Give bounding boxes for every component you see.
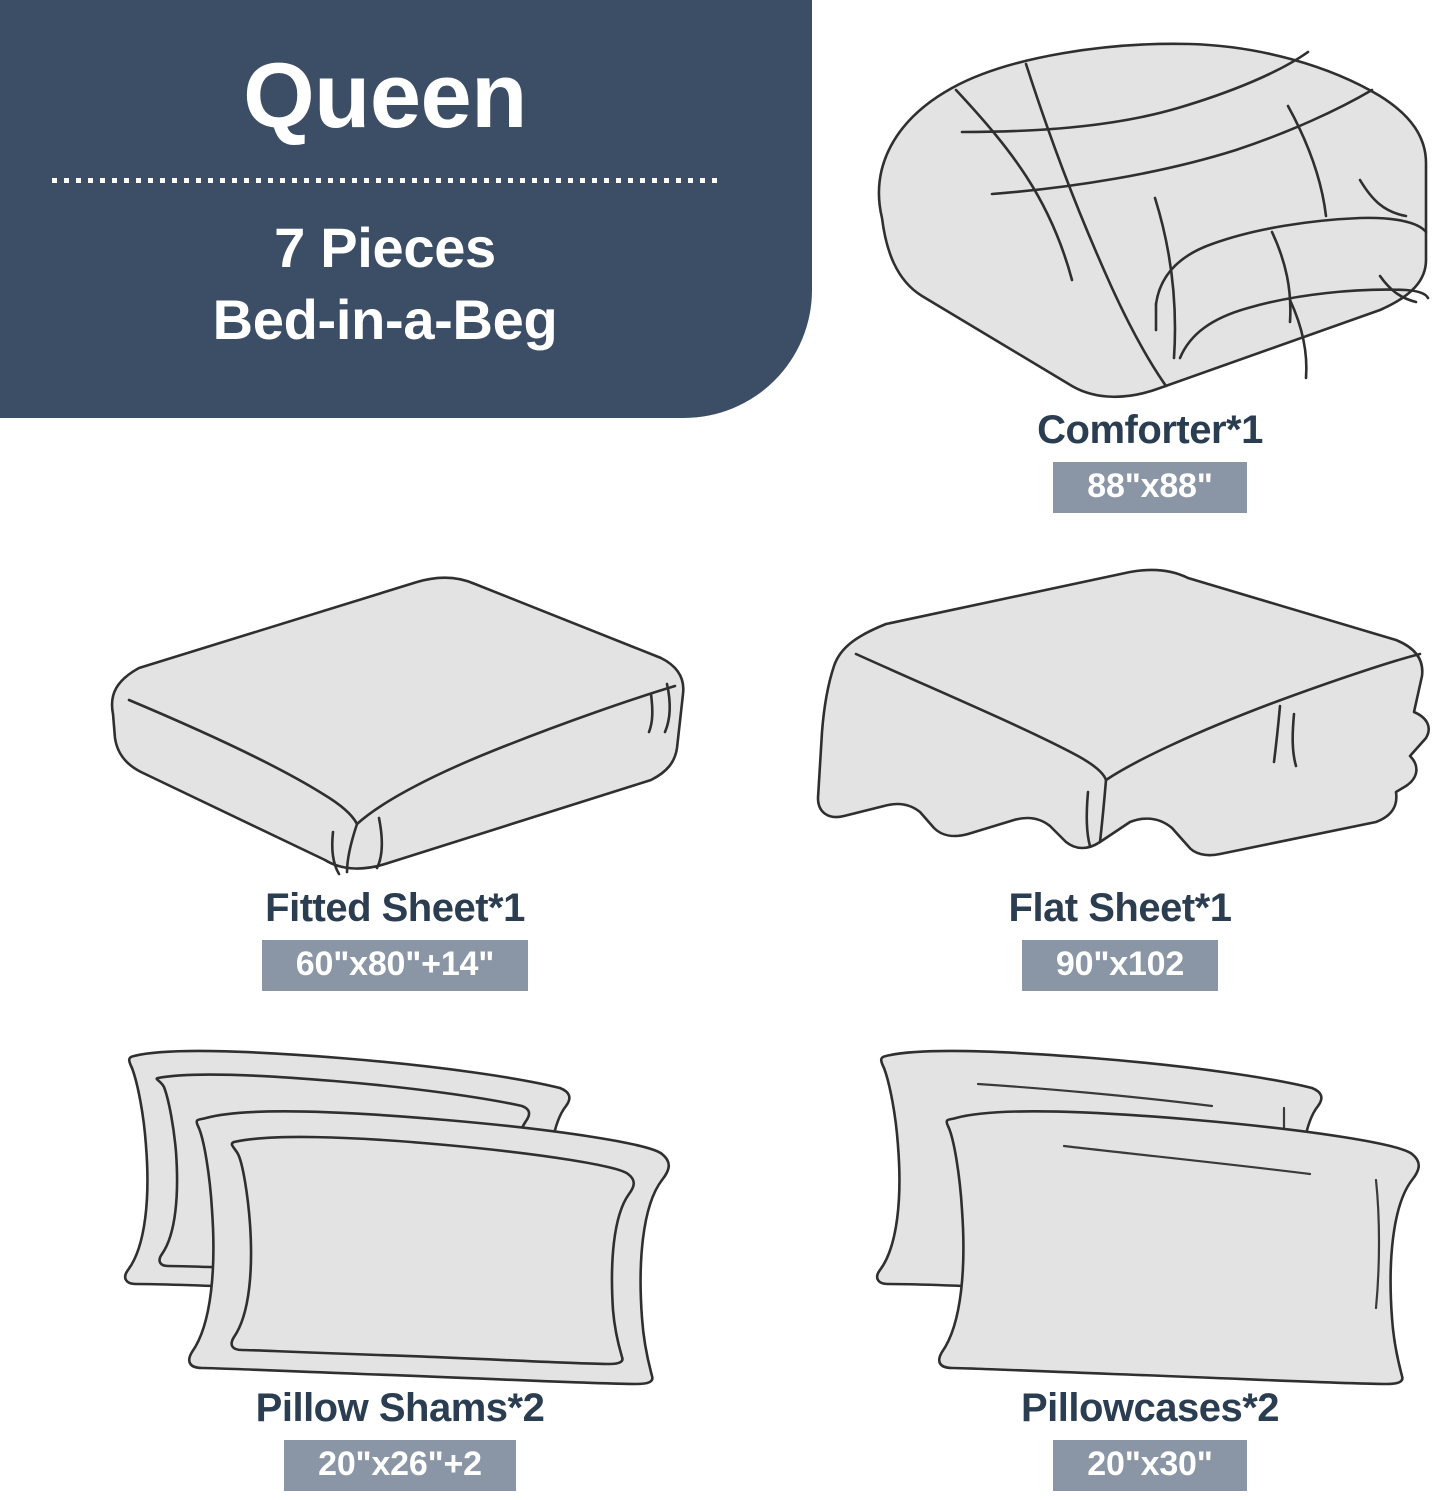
comforter-dimensions-badge: 88"x88" (1053, 462, 1246, 513)
comforter-caption: Comforter*1 88"x88" (860, 408, 1438, 513)
product-cell-flat-sheet: Flat Sheet*1 90"x102 (800, 566, 1438, 991)
pillowcases-caption: Pillowcases*2 20"x30" (860, 1386, 1438, 1491)
banner-piece-count: 7 Pieces (274, 216, 496, 279)
pillow-shams-label: Pillow Shams*2 (110, 1386, 690, 1430)
comforter-label: Comforter*1 (860, 408, 1438, 452)
comforter-illustration (860, 28, 1438, 408)
flat-sheet-label: Flat Sheet*1 (800, 886, 1438, 930)
pillow-shams-illustration (110, 1036, 690, 1386)
banner-product-type: Bed-in-a-Beg (0, 284, 770, 356)
pillow-shams-caption: Pillow Shams*2 20"x26"+2 (110, 1386, 690, 1491)
product-cell-comforter: Comforter*1 88"x88" (860, 28, 1438, 513)
banner-subtitle: 7 Pieces Bed-in-a-Beg (0, 212, 770, 355)
fitted-sheet-caption: Fitted Sheet*1 60"x80"+14" (95, 886, 695, 991)
product-cell-pillowcases: Pillowcases*2 20"x30" (860, 1036, 1438, 1491)
flat-sheet-illustration (800, 566, 1438, 886)
flat-sheet-caption: Flat Sheet*1 90"x102 (800, 886, 1438, 991)
banner-size-title: Queen (0, 48, 770, 145)
product-cell-fitted-sheet: Fitted Sheet*1 60"x80"+14" (95, 566, 695, 991)
pillowcases-icon (877, 1051, 1419, 1384)
pillow-shams-dimensions-badge: 20"x26"+2 (284, 1440, 516, 1491)
flat-sheet-icon (818, 570, 1429, 855)
product-cell-pillow-shams: Pillow Shams*2 20"x26"+2 (110, 1036, 690, 1491)
folded-comforter-icon (879, 44, 1428, 397)
fitted-sheet-label: Fitted Sheet*1 (95, 886, 695, 930)
flat-sheet-dimensions-badge: 90"x102 (1022, 940, 1218, 991)
fitted-sheet-illustration (95, 566, 695, 886)
banner-dotted-divider (52, 178, 724, 183)
pillowcases-illustration (860, 1036, 1438, 1386)
pillowcases-label: Pillowcases*2 (860, 1386, 1438, 1430)
size-banner: Queen 7 Pieces Bed-in-a-Beg (0, 0, 812, 418)
fitted-sheet-dimensions-badge: 60"x80"+14" (262, 940, 528, 991)
pillowcases-dimensions-badge: 20"x30" (1053, 1440, 1246, 1491)
pillow-shams-icon (125, 1051, 669, 1384)
product-infographic: Queen 7 Pieces Bed-in-a-Beg (0, 0, 1438, 1500)
fitted-sheet-icon (112, 578, 683, 874)
